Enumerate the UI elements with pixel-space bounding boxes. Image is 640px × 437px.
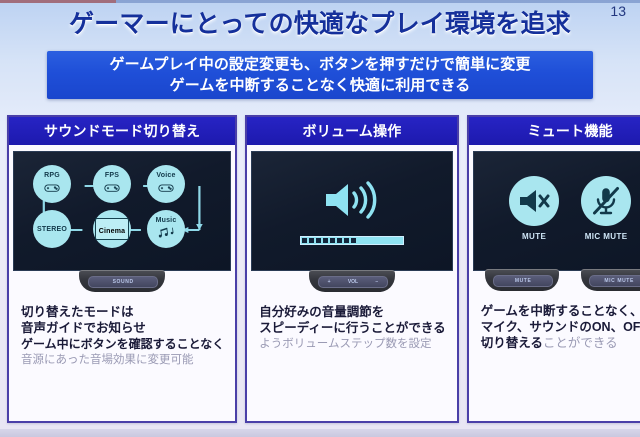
headset-buttons-mute: MUTE MIC MUTE [485,270,640,295]
panel-body-sound-mode: RPG FPS [9,145,235,421]
volume-down-label: − [375,280,378,285]
caption-dim-part: ことができる [543,336,618,350]
caption-volume: 自分好みの音量調節を スピーディーに行うことができる ようボリュームステップ数を… [252,296,451,417]
mode-node-music[interactable]: Music [147,210,185,248]
caption-line: スピーディーに行うことができる [259,320,445,336]
caption-line: 切り替えたモードは [21,304,224,320]
mode-node-label: FPS [105,172,119,179]
volume-step [337,238,342,243]
mute-icons-row: MUTE [474,152,640,270]
headset-button-mute: MUTE [485,269,559,295]
caption-sound-mode: 切り替えたモードは 音声ガイドでお知らせ ゲーム中にボタンを確認することなく 音… [14,296,230,417]
sound-mode-flow-diagram: RPG FPS [14,152,230,270]
selected-mode-highlight: Cinema [95,218,130,240]
device-screen-sound-mode: RPG FPS [13,151,231,271]
mode-node-fps[interactable]: FPS [93,165,131,203]
slide-bottom-edge [0,429,640,437]
gamepad-icon [44,181,60,197]
gamepad-icon [104,181,120,197]
top-blue-sliver [116,0,640,3]
mute-label: MIC MUTE [585,232,628,241]
slide-title-area: ゲーマーにとっての快適なプレイ環境を追求 [0,4,640,40]
sound-button-label: SOUND [113,280,134,285]
headset-button-sound: SOUND [79,270,165,296]
mode-node-voice[interactable]: Voice [147,165,185,203]
panel-header-sound-mode: サウンドモード切り替え [7,115,237,145]
mute-label: MUTE [522,232,546,241]
banner-line-2: ゲームを中断することなく快適に利用できる [170,75,471,96]
volume-step [330,238,335,243]
top-red-sliver [0,0,116,3]
slide-number: 13 [610,3,626,19]
headline-banner: ゲームプレイ中の設定変更も、ボタンを押すだけで簡単に変更 ゲームを中断することな… [47,51,593,99]
mode-node-label: RPG [44,172,60,179]
banner-line-1: ゲームプレイ中の設定変更も、ボタンを押すだけで簡単に変更 [109,54,530,75]
device-screen-mute: MUTE [473,151,640,271]
volume-step [316,238,321,243]
volume-step [302,238,307,243]
device-screen-volume [251,151,452,271]
feature-panels: サウンドモード切り替え [7,115,633,423]
mute-item-sound[interactable]: MUTE [509,176,559,241]
panel-title: ボリューム操作 [303,121,402,141]
mute-button-label: MUTE [515,279,532,284]
panel-body-volume: + VOL − 自分好みの音量調節を スピーディーに行うことができる ようボリュ… [247,145,456,421]
volume-step [323,238,328,243]
volume-step [351,238,356,243]
panel-mute: ミュート機能 MUTE [467,115,640,423]
caption-line-dim: ようボリュームステップ数を設定 [259,336,445,352]
mute-item-mic[interactable]: MIC MUTE [581,176,631,241]
speaker-mute-icon [509,176,559,226]
caption-line: 音声ガイドでお知らせ [21,320,224,336]
caption-line-mixed: 切り替えることができる [481,335,640,351]
volume-label: VOL [348,280,358,285]
headset-button-volume: + VOL − [309,270,395,296]
panel-header-volume: ボリューム操作 [245,115,458,145]
mic-mute-button-label: MIC MUTE [604,279,634,284]
volume-step [309,238,314,243]
mode-node-label: STEREO [37,226,67,233]
volume-up-label: + [328,280,331,285]
mode-node-rpg[interactable]: RPG [33,165,71,203]
panel-sound-mode: サウンドモード切り替え [7,115,237,423]
caption-line: ゲームを中断することなく、 [481,303,640,319]
mode-node-stereo[interactable]: STEREO [33,210,71,248]
page-title: ゲーマーにとっての快適なプレイ環境を追求 [69,4,571,40]
panel-title: ミュート機能 [528,121,613,141]
headset-button-mic-mute: MIC MUTE [581,269,640,295]
music-note-icon [157,226,175,242]
mode-node-cinema[interactable]: Cinema [93,210,131,248]
speaker-waves-icon [320,177,384,228]
caption-line: ゲーム中にボタンを確認することなく [21,336,224,352]
caption-line-dim: 音源にあった音場効果に変更可能 [21,352,224,368]
slide-root: ゲーマーにとっての快適なプレイ環境を追求 13 ゲームプレイ中の設定変更も、ボタ… [0,0,640,437]
volume-display [252,152,451,270]
volume-level-bar[interactable] [300,236,404,245]
caption-line: 自分好みの音量調節を [259,304,445,320]
panel-title: サウンドモード切り替え [44,121,200,141]
gamepad-icon [158,181,174,197]
caption-mute: ゲームを中断することなく、 マイク、サウンドのON、OFFを 切り替えることがで… [474,295,640,417]
mode-node-label: Voice [156,172,175,179]
mic-mute-button[interactable]: MIC MUTE [589,275,640,287]
sound-button[interactable]: SOUND [88,276,158,288]
mute-button[interactable]: MUTE [493,275,553,287]
volume-step [344,238,349,243]
volume-button[interactable]: + VOL − [318,276,388,288]
mode-node-label: Music [156,217,177,224]
panel-volume: ボリューム操作 [245,115,458,423]
caption-line: マイク、サウンドのON、OFFを [481,319,640,335]
panel-body-mute: MUTE [469,145,640,421]
mode-node-label: Cinema [99,228,126,235]
panel-header-mute: ミュート機能 [467,115,640,145]
mic-mute-icon [581,176,631,226]
caption-bold-part: 切り替える [481,336,543,350]
